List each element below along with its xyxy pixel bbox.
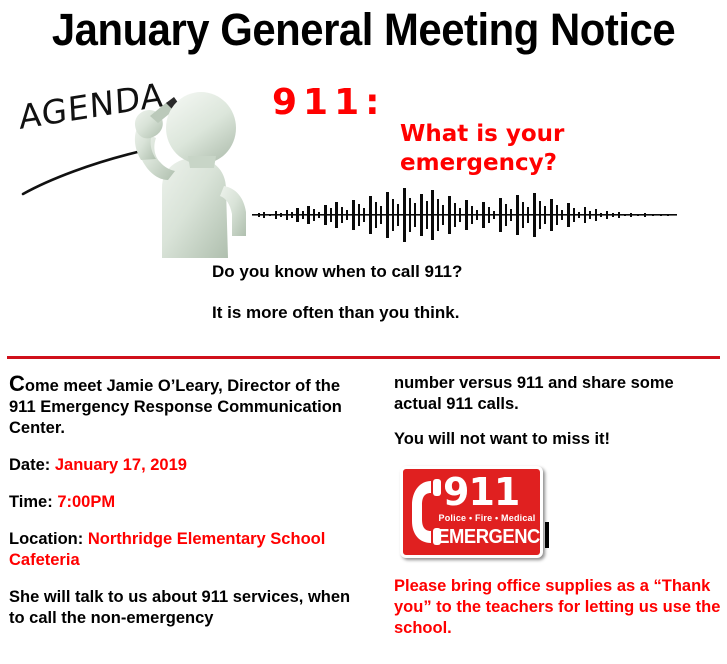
talk-paragraph: She will talk to us about 911 services, … xyxy=(9,587,364,629)
audio-waveform-icon xyxy=(252,184,677,246)
time-line: Time: 7:00PM xyxy=(9,492,364,513)
tagline-secondary: It is more often than you think. xyxy=(212,302,459,324)
location-line: Location: Northridge Elementary School C… xyxy=(9,529,364,571)
location-label: Location: xyxy=(9,530,83,548)
text-cursor-mark xyxy=(545,522,549,548)
person-writing-icon xyxy=(120,76,265,258)
time-label: Time: xyxy=(9,493,53,511)
date-line: Date: January 17, 2019 xyxy=(9,455,364,476)
left-column: Come meet Jamie O’Leary, Director of the… xyxy=(9,373,364,645)
time-value: 7:00PM xyxy=(57,493,115,511)
emergency-911-badge: 911 Police • Fire • Medical EMERGENCY xyxy=(400,466,543,558)
badge-services: Police • Fire • Medical xyxy=(437,513,537,524)
hero-question-text: What is your emergency? xyxy=(400,120,660,178)
date-value: January 17, 2019 xyxy=(55,456,187,474)
intro-paragraph: Come meet Jamie O’Leary, Director of the… xyxy=(9,373,364,439)
intro-text: ome meet Jamie O’Leary, Director of the … xyxy=(9,377,342,437)
intro-dropcap: C xyxy=(9,371,25,396)
date-label: Date: xyxy=(9,456,50,474)
right-column: number versus 911 and share some actual … xyxy=(394,373,724,639)
tagline-primary: Do you know when to call 911? xyxy=(212,261,462,283)
flyer-page: January General Meeting Notice AGENDA xyxy=(0,0,727,664)
badge-row: 911 Police • Fire • Medical EMERGENCY xyxy=(394,466,724,562)
section-divider xyxy=(7,356,720,359)
page-title: January General Meeting Notice xyxy=(25,4,701,56)
badge-number: 911 xyxy=(443,472,519,512)
badge-emergency-word: EMERGENCY xyxy=(437,525,535,549)
continuation-paragraph: number versus 911 and share some actual … xyxy=(394,373,724,415)
hero-graphic: AGENDA xyxy=(0,72,727,257)
dont-miss-paragraph: You will not want to miss it! xyxy=(394,429,724,450)
hero-911-label: 911: xyxy=(272,84,386,122)
supplies-note: Please bring office supplies as a “Thank… xyxy=(394,576,724,639)
